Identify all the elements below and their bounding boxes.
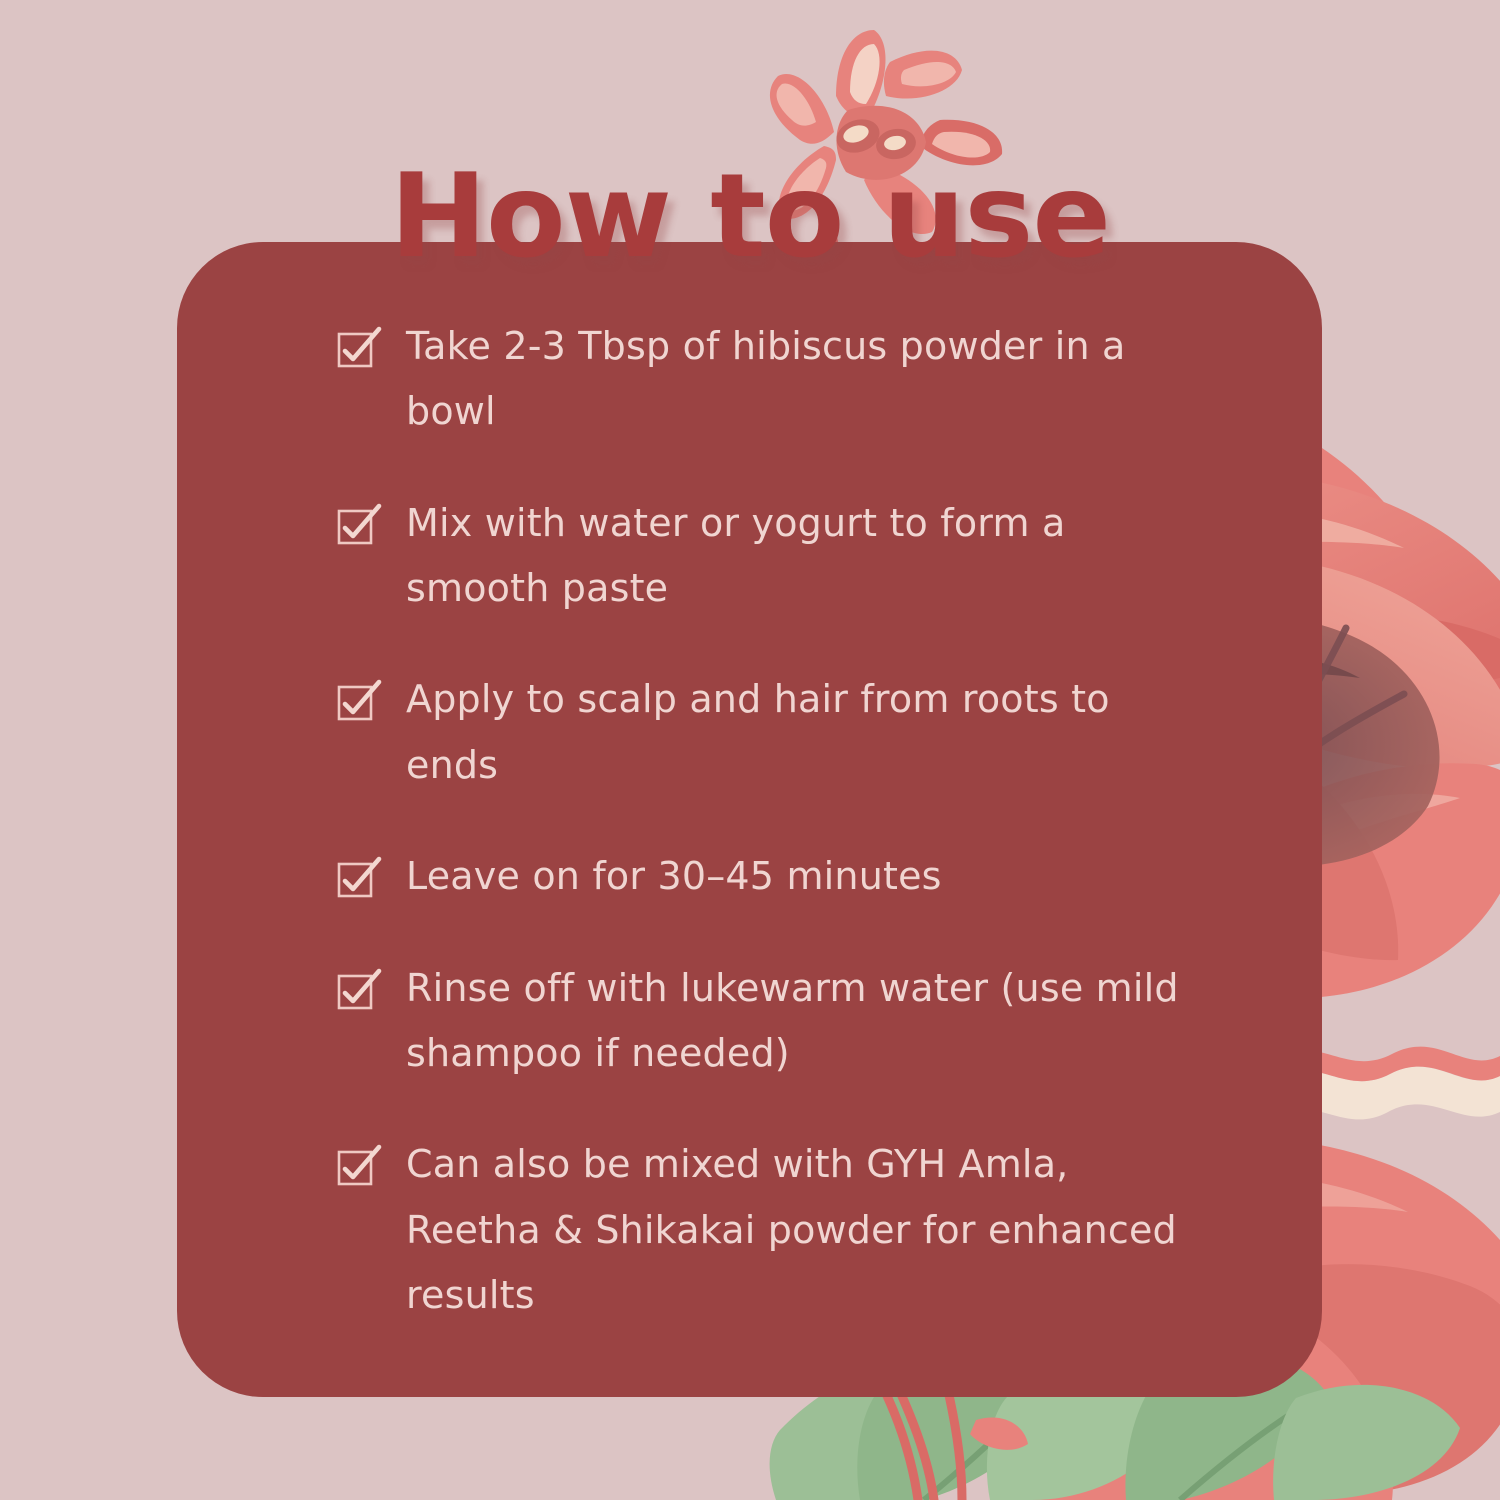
list-item-label: Apply to scalp and hair from roots to en… — [406, 667, 1196, 798]
list-item-label: Can also be mixed with GYH Amla, Reetha … — [406, 1132, 1196, 1328]
list-item: Can also be mixed with GYH Amla, Reetha … — [337, 1132, 1262, 1328]
list-item-label: Leave on for 30–45 minutes — [406, 844, 1196, 909]
list-item: Mix with water or yogurt to form a smoot… — [337, 491, 1262, 622]
list-item-label: Rinse off with lukewarm water (use mild … — [406, 956, 1196, 1087]
list-item: Apply to scalp and hair from roots to en… — [337, 667, 1262, 798]
ballot-box-with-check-icon — [337, 507, 375, 545]
how-to-use-card: Take 2-3 Tbsp of hibiscus powder in a bo… — [177, 242, 1322, 1397]
ballot-box-with-check-icon — [337, 972, 375, 1010]
list-item-label: Mix with water or yogurt to form a smoot… — [406, 491, 1196, 622]
ballot-box-with-check-icon — [337, 683, 375, 721]
poster-canvas: How to use Take 2-3 Tbsp of hibiscus pow… — [0, 0, 1500, 1500]
ballot-box-with-check-icon — [337, 330, 375, 368]
page-title: How to use — [0, 156, 1500, 278]
instructions-checklist: Take 2-3 Tbsp of hibiscus powder in a bo… — [337, 314, 1262, 1328]
list-item: Rinse off with lukewarm water (use mild … — [337, 956, 1262, 1087]
list-item-label: Take 2-3 Tbsp of hibiscus powder in a bo… — [406, 314, 1196, 445]
list-item: Leave on for 30–45 minutes — [337, 844, 1262, 909]
list-item: Take 2-3 Tbsp of hibiscus powder in a bo… — [337, 314, 1262, 445]
ballot-box-with-check-icon — [337, 1148, 375, 1186]
ballot-box-with-check-icon — [337, 860, 375, 898]
